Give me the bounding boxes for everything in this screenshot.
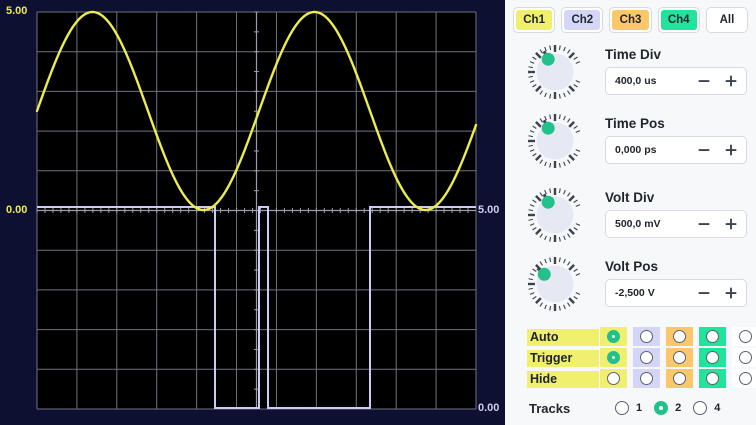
knob-tick [569, 229, 574, 234]
knob-tick [564, 47, 566, 51]
knob-tick [569, 121, 574, 126]
tracks-option-label: 1 [636, 402, 642, 414]
minus-icon [697, 217, 711, 231]
field-time-div[interactable]: 400,0 us [605, 67, 747, 95]
knob-tick [564, 259, 566, 263]
knob-tick [576, 273, 580, 275]
knob-tick [530, 80, 534, 82]
knob-tick [559, 94, 560, 98]
matrix-cell-hide-ch1[interactable] [600, 369, 627, 388]
knob-tick [529, 76, 533, 77]
matrix-cell-auto-ch4[interactable] [699, 327, 726, 346]
knob-tick [545, 190, 547, 194]
channel-selector: Ch1Ch2Ch3Ch4All [505, 0, 756, 33]
control-group-volt-pos: Volt Pos-2,500 V [505, 248, 756, 319]
tracks-option-4[interactable]: 4 [693, 401, 720, 415]
knob-tick [530, 292, 534, 294]
tracks-options: 124 [615, 401, 732, 415]
knob-tick [576, 149, 580, 151]
knob-tick [533, 227, 537, 230]
knob-tick [550, 237, 551, 241]
knob-tick [550, 114, 551, 118]
knob-tick [576, 223, 580, 225]
knob-tick [545, 235, 547, 239]
matrix-row-hide: Hide [505, 368, 756, 389]
radio-icon [673, 351, 686, 364]
value-time-div[interactable]: 400,0 us [615, 75, 690, 87]
knob-tick [536, 155, 541, 160]
knob-indicator-dot [542, 52, 555, 65]
knob-tick [540, 261, 543, 265]
knob-tick [533, 296, 537, 299]
channel-button-ch4[interactable]: Ch4 [658, 7, 700, 33]
channel-button-ch2[interactable]: Ch2 [561, 7, 603, 33]
channel-button-label: All [709, 10, 745, 30]
label-volt-pos: Volt Pos [605, 260, 747, 274]
decrement-time-pos-button[interactable] [690, 137, 717, 163]
matrix-cells [600, 369, 756, 388]
knob-tick [545, 304, 547, 308]
knob-tick [568, 49, 571, 53]
matrix-cell-trigger-all[interactable] [732, 348, 756, 367]
knob-tick [530, 273, 534, 275]
knob-tick [533, 153, 537, 156]
knob-tick [568, 159, 571, 163]
knob-tick [550, 306, 551, 310]
control-group-time-pos: Time Pos0,000 ps [505, 105, 756, 176]
tracks-option-label: 2 [675, 402, 681, 414]
plus-icon [724, 74, 738, 88]
knob-tick [529, 278, 533, 279]
knob-tick [564, 116, 566, 120]
tracks-option-1[interactable]: 1 [615, 401, 642, 415]
field-column-volt-div: Volt Div500,0 mV [605, 191, 756, 238]
increment-time-pos-button[interactable] [717, 137, 744, 163]
radio-icon [607, 351, 620, 364]
value-volt-pos[interactable]: -2,500 V [615, 287, 690, 299]
field-volt-pos[interactable]: -2,500 V [605, 279, 747, 307]
matrix-cell-hide-all[interactable] [732, 369, 756, 388]
knob-tick [540, 118, 543, 122]
radio-icon [739, 330, 752, 343]
channel-button-label: Ch2 [564, 10, 600, 30]
radio-icon [640, 330, 653, 343]
knob-time-pos[interactable] [524, 110, 586, 172]
increment-time-div-button[interactable] [717, 68, 744, 94]
knob-tick [564, 190, 566, 194]
radio-icon [640, 351, 653, 364]
knob-volt-pos-wrapper[interactable] [505, 253, 605, 315]
knob-indicator-dot [542, 121, 555, 134]
ch1-scale-bottom-label: 0.00 [6, 204, 27, 216]
knob-tick [576, 130, 580, 132]
knob-tick [536, 86, 541, 91]
knob-tick [569, 298, 574, 303]
knob-tick [568, 261, 571, 265]
knob-volt-div-wrapper[interactable] [505, 184, 605, 246]
knob-tick [540, 302, 543, 306]
knob-tick [559, 257, 560, 261]
knob-tick [529, 135, 533, 136]
decrement-volt-div-button[interactable] [690, 211, 717, 237]
matrix-cell-hide-ch3[interactable] [666, 369, 693, 388]
field-column-volt-pos: Volt Pos-2,500 V [605, 260, 756, 307]
knob-tick [533, 199, 537, 202]
knob-tick [559, 306, 560, 310]
field-volt-div[interactable]: 500,0 mV [605, 210, 747, 238]
knob-tick [540, 49, 543, 53]
label-time-pos: Time Pos [605, 117, 747, 131]
field-column-time-pos: Time Pos0,000 ps [605, 117, 756, 164]
knob-tick [550, 94, 551, 98]
knob-tick [533, 56, 537, 59]
radio-icon [706, 351, 719, 364]
knob-tick [559, 45, 560, 49]
tracks-label: Tracks [505, 401, 615, 416]
tracks-option-label: 4 [714, 402, 720, 414]
channel-mode-matrix: AutoTriggerHide [505, 326, 756, 389]
knob-tick [564, 235, 566, 239]
knob-tick [540, 192, 543, 196]
radio-icon [615, 401, 629, 415]
radio-icon [654, 401, 668, 415]
knob-tick [569, 155, 574, 160]
radio-icon [739, 372, 752, 385]
knob-tick [576, 80, 580, 82]
knob-indicator-dot [542, 195, 555, 208]
decrement-time-div-button[interactable] [690, 68, 717, 94]
knob-tick [569, 195, 574, 200]
knob-tick [568, 90, 571, 94]
knob-tick [568, 302, 571, 306]
matrix-cell-auto-ch2[interactable] [633, 327, 660, 346]
field-column-time-div: Time Div400,0 us [605, 48, 756, 95]
plus-icon [724, 143, 738, 157]
plus-icon [724, 286, 738, 300]
knob-tick [536, 121, 541, 126]
knob-tick [529, 209, 533, 210]
matrix-row-label-wrap: Hide [505, 370, 600, 388]
knob-tick [550, 163, 551, 167]
knob-tick [533, 125, 537, 128]
knob-tick [530, 61, 534, 63]
knob-tick [568, 118, 571, 122]
knob-tick [545, 116, 547, 120]
knob-tick [574, 268, 578, 271]
channel-button-label: Ch1 [516, 10, 552, 30]
knob-tick [574, 125, 578, 128]
matrix-row-label-auto: Auto [527, 329, 599, 346]
control-panel: Ch1Ch2Ch3Ch4All Time Div400,0 us Time Po… [505, 0, 756, 425]
tracks-row: Tracks 124 [505, 396, 756, 420]
label-time-div: Time Div [605, 48, 747, 62]
matrix-cell-auto-ch3[interactable] [666, 327, 693, 346]
matrix-cell-trigger-ch2[interactable] [633, 348, 660, 367]
matrix-cell-hide-ch2[interactable] [633, 369, 660, 388]
knob-tick [550, 45, 551, 49]
knob-tick [568, 233, 571, 237]
knob-tick [533, 84, 537, 87]
radio-icon [673, 330, 686, 343]
increment-volt-div-button[interactable] [717, 211, 744, 237]
channel-button-ch1[interactable]: Ch1 [513, 7, 555, 33]
matrix-row-trigger: Trigger [505, 347, 756, 368]
radio-icon [640, 372, 653, 385]
control-group-time-div: Time Div400,0 us [505, 36, 756, 107]
knob-tick [545, 92, 547, 96]
radio-icon [673, 372, 686, 385]
knob-tick [540, 233, 543, 237]
knob-volt-pos[interactable] [524, 253, 586, 315]
knob-tick [574, 56, 578, 59]
knob-tick [569, 52, 574, 57]
matrix-row-label-trigger: Trigger [527, 350, 599, 367]
oscilloscope-app: 5.00 0.00 5.00 0.00 Ch1Ch2Ch3Ch4All Time… [0, 0, 756, 425]
knob-tick [576, 292, 580, 294]
knob-tick [545, 161, 547, 165]
ch1-scale-top-label: 5.00 [6, 5, 27, 17]
knob-tick [529, 219, 533, 220]
knob-tick [540, 159, 543, 163]
knob-tick [536, 229, 541, 234]
radio-icon [706, 372, 719, 385]
knob-tick [550, 257, 551, 261]
matrix-row-label-wrap: Auto [505, 328, 600, 346]
knob-tick [559, 163, 560, 167]
matrix-cells [600, 327, 756, 346]
knob-time-pos-wrapper[interactable] [505, 110, 605, 172]
knob-tick [533, 268, 537, 271]
value-time-pos[interactable]: 0,000 ps [615, 144, 690, 156]
knob-tick [559, 114, 560, 118]
minus-icon [697, 74, 711, 88]
minus-icon [697, 286, 711, 300]
matrix-cell-auto-all[interactable] [732, 327, 756, 346]
knob-tick [569, 86, 574, 91]
matrix-row-label-wrap: Trigger [505, 349, 600, 367]
knob-tick [545, 259, 547, 263]
value-volt-div[interactable]: 500,0 mV [615, 218, 690, 230]
knob-tick [536, 298, 541, 303]
knob-tick [530, 149, 534, 151]
knob-tick [530, 130, 534, 132]
knob-tick [536, 195, 541, 200]
scope-display[interactable]: 5.00 0.00 5.00 0.00 [0, 0, 505, 425]
ch2-scale-bottom-label: 0.00 [478, 402, 499, 414]
channel-button-all[interactable]: All [706, 7, 748, 33]
ch2-scale-top-label: 5.00 [478, 204, 499, 216]
matrix-cells [600, 348, 756, 367]
radio-icon [607, 372, 620, 385]
channel-button-label: Ch3 [612, 10, 648, 30]
knob-tick [529, 145, 533, 146]
matrix-cell-trigger-ch3[interactable] [666, 348, 693, 367]
knob-tick [545, 47, 547, 51]
knob-tick [529, 66, 533, 67]
knob-tick [576, 204, 580, 206]
decrement-volt-pos-button[interactable] [690, 280, 717, 306]
control-group-volt-div: Volt Div500,0 mV [505, 179, 756, 250]
knob-tick [574, 296, 578, 299]
knob-tick [550, 188, 551, 192]
radio-icon [739, 351, 752, 364]
knob-time-div-wrapper[interactable] [505, 41, 605, 103]
channel-button-ch3[interactable]: Ch3 [609, 7, 651, 33]
matrix-cell-auto-ch1[interactable] [600, 327, 627, 346]
radio-icon [693, 401, 707, 415]
knob-tick [568, 192, 571, 196]
radio-icon [706, 330, 719, 343]
knob-time-div[interactable] [524, 41, 586, 103]
matrix-row-auto: Auto [505, 326, 756, 347]
waveform-canvas[interactable] [0, 0, 505, 425]
field-time-pos[interactable]: 0,000 ps [605, 136, 747, 164]
knob-tick [530, 204, 534, 206]
matrix-cell-hide-ch4[interactable] [699, 369, 726, 388]
knob-tick [529, 288, 533, 289]
matrix-cell-trigger-ch4[interactable] [699, 348, 726, 367]
knob-tick [564, 92, 566, 96]
radio-icon [607, 330, 620, 343]
knob-tick [576, 61, 580, 63]
knob-tick [574, 153, 578, 156]
knob-volt-div[interactable] [524, 184, 586, 246]
channel-button-label: Ch4 [661, 10, 697, 30]
knob-tick [559, 237, 560, 241]
matrix-cell-trigger-ch1[interactable] [600, 348, 627, 367]
knob-tick [564, 304, 566, 308]
knob-tick [559, 188, 560, 192]
knob-tick [569, 264, 574, 269]
label-volt-div: Volt Div [605, 191, 747, 205]
knob-indicator-dot [538, 267, 551, 280]
knob-tick [564, 161, 566, 165]
knob-tick [536, 52, 541, 57]
minus-icon [697, 143, 711, 157]
knob-tick [574, 84, 578, 87]
plus-icon [724, 217, 738, 231]
matrix-row-label-hide: Hide [527, 371, 599, 388]
knob-tick [540, 90, 543, 94]
increment-volt-pos-button[interactable] [717, 280, 744, 306]
knob-tick [574, 199, 578, 202]
knob-tick [574, 227, 578, 230]
tracks-option-2[interactable]: 2 [654, 401, 681, 415]
knob-tick [530, 223, 534, 225]
